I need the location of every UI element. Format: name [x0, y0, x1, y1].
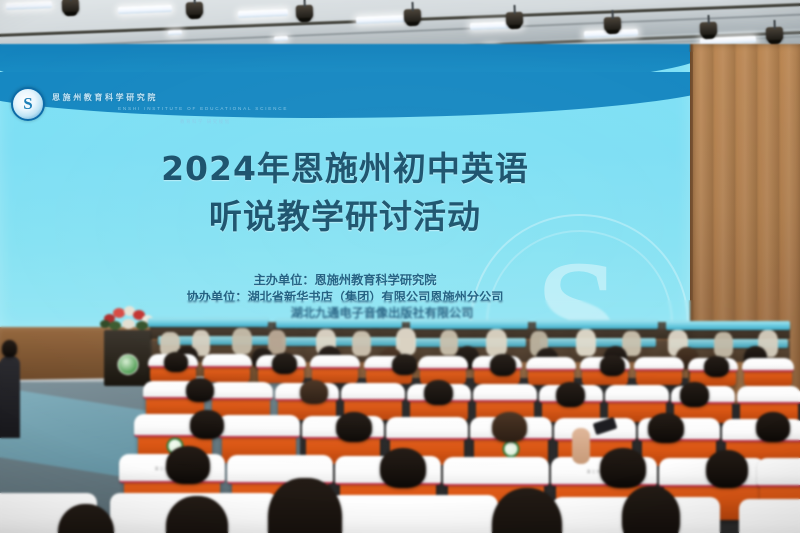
- seat-number-badge-icon: [503, 440, 520, 457]
- stage-spotlight-icon: [604, 17, 622, 33]
- slide-title-line-2: 听说教学研讨活动: [0, 190, 690, 238]
- institute-name-cn: 恩施州教育科学研究院: [52, 92, 158, 103]
- projection-screen: S S 恩施州教育科学研究院 ENSHI INSTITUTE OF EDUCAT…: [0, 44, 690, 329]
- stage-spotlight-icon: [62, 0, 80, 14]
- seat-cover: [526, 357, 577, 371]
- desk-row: [276, 319, 402, 328]
- attendee-head: [706, 450, 748, 488]
- fluorescent-strip-light-icon: [274, 36, 288, 42]
- attendee-head: [190, 410, 224, 439]
- seat-cover: [739, 499, 800, 533]
- back-audience-figure: [232, 328, 252, 354]
- seat: [204, 362, 250, 382]
- attendee-head: [600, 448, 646, 488]
- seat: [636, 365, 682, 385]
- credit-line: 主办单位：恩施州教育科学研究院: [0, 272, 690, 289]
- seat-cover: [310, 355, 361, 369]
- seat-cover: [418, 356, 469, 370]
- attendee-head: [648, 413, 684, 443]
- attendee-head: [380, 448, 426, 488]
- institute-seal-mark: S: [23, 95, 32, 112]
- institute-name-pinyin: ENSHI INSTITUTE OF EDUCATIONAL SCIENCE: [118, 106, 288, 111]
- slide-title-line-1: 2024年恩施州初中英语: [0, 142, 690, 190]
- attendee-head: [424, 380, 453, 405]
- back-audience-figure: [268, 330, 286, 354]
- seat-numbered: 2: [338, 524, 490, 533]
- seat-cover: [473, 384, 537, 402]
- conference-hall-photo: S S 恩施州教育科学研究院 ENSHI INSTITUTE OF EDUCAT…: [0, 0, 800, 533]
- seat-cover: [202, 354, 253, 368]
- stage-spotlight-icon: [766, 27, 784, 43]
- attendee-head: [490, 354, 516, 376]
- institute-seal-icon: S: [11, 87, 45, 121]
- desk-row: [536, 320, 658, 329]
- attendee-head: [268, 478, 342, 533]
- stage-spotlight-icon: [404, 9, 422, 25]
- attendee-head: [300, 380, 328, 404]
- stage-spotlight-icon: [700, 22, 718, 38]
- audience-seating: 清江外国语学校 清江外国语学校 1: [0, 300, 800, 533]
- attendee-head: [680, 382, 709, 407]
- stage-spotlight-icon: [186, 2, 204, 18]
- attendee-head: [186, 378, 214, 402]
- attendee-head: [492, 412, 527, 442]
- seat-cover: [605, 385, 669, 403]
- institute-tagline: 教育科学 研究规划: [180, 119, 231, 125]
- desk-row: [666, 321, 790, 330]
- attendee-arm: [572, 428, 590, 464]
- stage-spotlight-icon: [506, 12, 524, 28]
- credit-value: 恩施州教育科学研究院: [315, 273, 437, 287]
- attendee-head: [272, 353, 297, 374]
- seat-cover: [218, 415, 299, 438]
- seat: [744, 366, 792, 386]
- seat-cover: [742, 358, 795, 372]
- seat: [744, 528, 800, 533]
- attendee-head: [392, 354, 417, 375]
- seat-cover: [330, 495, 497, 533]
- back-audience-figure: [486, 329, 507, 356]
- back-audience-figure: [352, 331, 371, 356]
- attendee-head: [704, 356, 729, 377]
- attendee-head: [600, 355, 625, 376]
- attendee-head: [164, 352, 188, 372]
- desk-row: [410, 320, 528, 329]
- stage-spotlight-icon: [296, 5, 314, 21]
- fluorescent-strip-light-icon: [168, 30, 182, 36]
- attendee-head: [756, 412, 790, 442]
- desk-row: [148, 318, 268, 327]
- back-audience-figure: [576, 329, 596, 356]
- attendee-head: [166, 446, 210, 484]
- credit-label: 主办单位：: [254, 273, 315, 287]
- back-audience-figure: [440, 330, 458, 355]
- back-audience-figure: [714, 332, 733, 357]
- attendee-head: [336, 412, 372, 442]
- seat-cover: [737, 386, 800, 404]
- seat-cover: [443, 457, 549, 486]
- seat-cover: [634, 357, 685, 371]
- seat-cover: [386, 417, 467, 440]
- seat-cover: [209, 382, 273, 400]
- seat-cover: [341, 383, 405, 401]
- seat-cover: [757, 458, 800, 487]
- attendee-head: [556, 382, 585, 407]
- desk-row: [282, 337, 400, 346]
